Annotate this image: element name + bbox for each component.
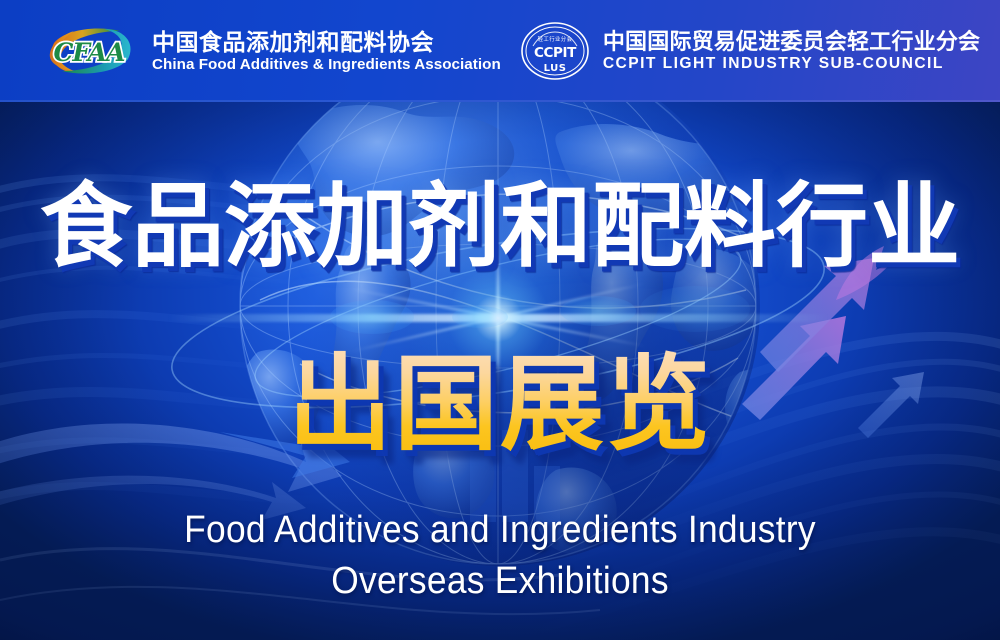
hero-subtitle: Food Additives and Ingredients Industry …: [0, 505, 1000, 607]
promotional-banner: CFAA CFAA 中国食品添加剂和配料协会 China Food Additi…: [0, 0, 1000, 640]
hero-title-line2-text: 出国展览: [288, 348, 712, 460]
cfaa-logo-icon: CFAA CFAA: [40, 23, 140, 79]
hero-title-line1: 食品添加剂和配料行业: [0, 178, 1000, 276]
hero-subtitle-line1: Food Additives and Ingredients Industry: [35, 505, 965, 556]
ccpit-sub-label: LUS: [543, 63, 566, 74]
cfaa-acronym: CFAA: [54, 38, 126, 67]
hero-subtitle-line2: Overseas Exhibitions: [35, 556, 965, 607]
ccpit-acronym: CCPIT: [534, 45, 577, 61]
cfaa-name-cn: 中国食品添加剂和配料协会: [152, 29, 501, 55]
hero-title-line2: 出国展览: [0, 348, 1000, 460]
ccpit-emblem-icon: 轻工行业分会 CCPIT LUS: [519, 20, 591, 82]
header-bar: CFAA CFAA 中国食品添加剂和配料协会 China Food Additi…: [0, 0, 1000, 102]
cfaa-name-en: China Food Additives & Ingredients Assoc…: [152, 55, 501, 74]
ccpit-name-cn: 中国国际贸易促进委员会轻工行业分会: [603, 29, 980, 54]
organization-cfaa[interactable]: CFAA CFAA 中国食品添加剂和配料协会 China Food Additi…: [40, 23, 501, 79]
ccpit-name-en: CCPIT LIGHT INDUSTRY SUB-COUNCIL: [603, 54, 980, 73]
ccpit-arc-label: 轻工行业分会: [537, 35, 572, 43]
organization-ccpit[interactable]: 轻工行业分会 CCPIT LUS 中国国际贸易促进委员会轻工行业分会 CCPIT…: [519, 20, 980, 82]
